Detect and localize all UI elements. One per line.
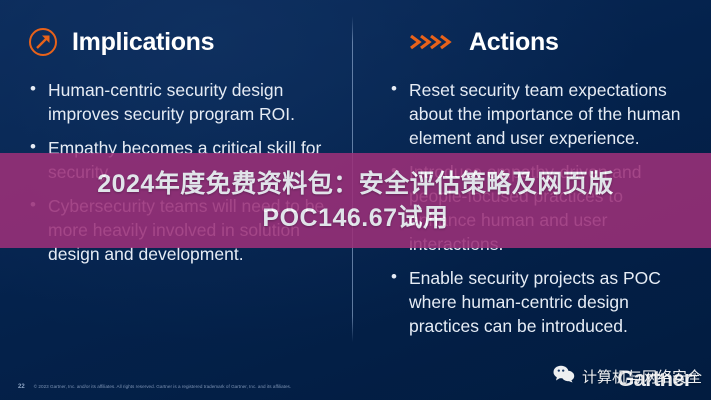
footer-copyright: 22 © 2023 Gartner, Inc. and/or its affil…	[18, 384, 291, 390]
implications-header: Implications	[28, 22, 331, 62]
promo-banner-line-1: 2024年度免费资料包：安全评估策略及网页版	[97, 167, 614, 201]
presentation-slide: Implications Human-centric security desi…	[0, 0, 711, 400]
list-item: Human-centric security design improves s…	[28, 78, 331, 126]
page-number: 22	[18, 384, 25, 390]
implications-title: Implications	[72, 30, 214, 55]
double-chevron-right-icon	[409, 32, 453, 52]
wechat-icon	[553, 365, 575, 387]
wechat-watermark: 计算机与网络安全	[553, 365, 702, 387]
actions-title: Actions	[469, 30, 559, 55]
list-item: Reset security team expectations about t…	[389, 78, 693, 150]
promo-banner-overlay: 2024年度免费资料包：安全评估策略及网页版 POC146.67试用	[0, 153, 711, 248]
list-item: Enable security projects as POC where hu…	[389, 266, 693, 338]
circle-arrow-up-right-icon	[28, 27, 58, 57]
promo-banner-line-2: POC146.67试用	[262, 201, 448, 235]
wechat-watermark-text: 计算机与网络安全	[582, 366, 702, 387]
actions-header: Actions	[409, 22, 693, 62]
copyright-text: © 2023 Gartner, Inc. and/or its affiliat…	[34, 384, 291, 389]
